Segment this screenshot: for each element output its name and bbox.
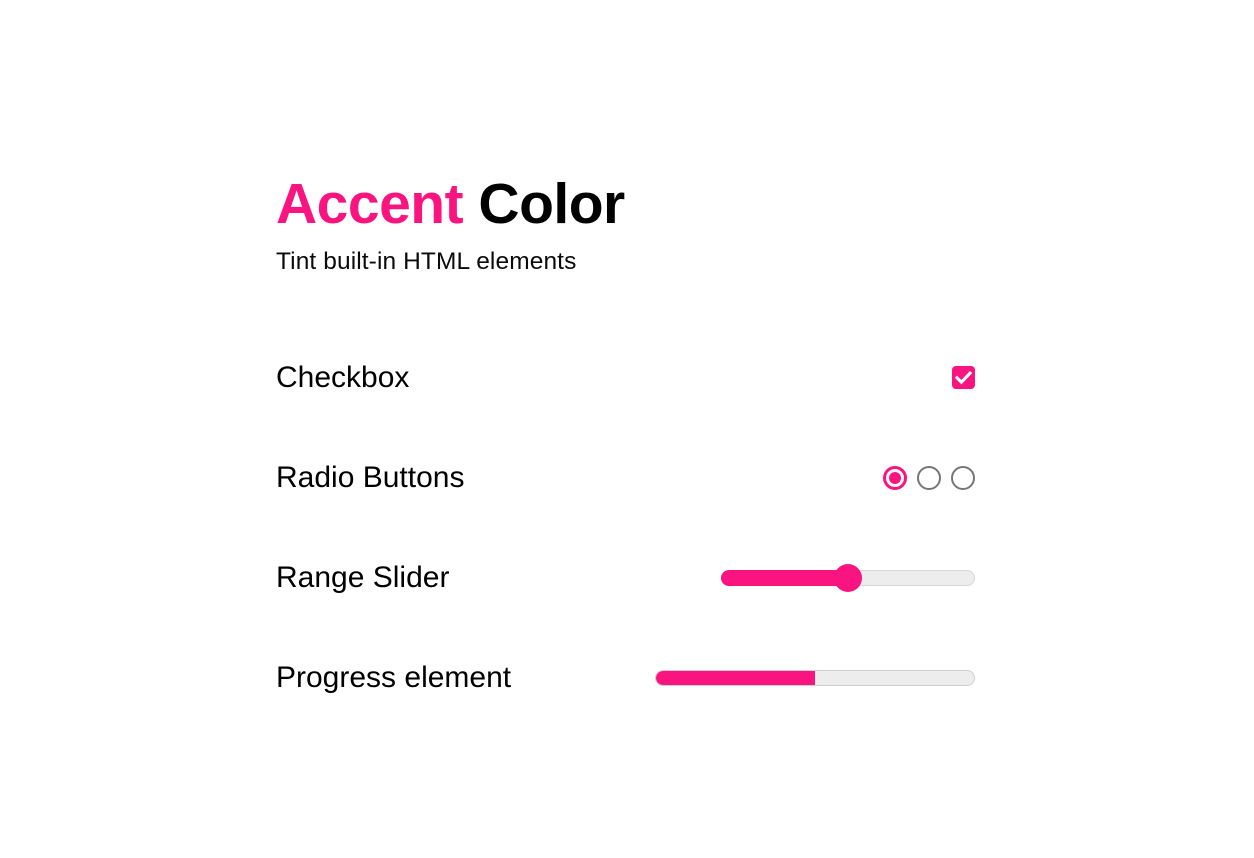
content-container: Accent Color Tint built-in HTML elements… (276, 175, 976, 728)
page-title-plain-word: Color (478, 172, 624, 236)
range-slider-input[interactable] (721, 564, 975, 592)
row-label-radio-buttons: Radio Buttons (276, 463, 464, 493)
row-label-range-slider: Range Slider (276, 563, 449, 593)
row-label-checkbox: Checkbox (276, 363, 409, 393)
control-cell-checkbox (952, 366, 976, 389)
radio-group (883, 466, 975, 490)
check-icon (952, 366, 975, 389)
radio-option-2[interactable] (917, 466, 941, 490)
row-radio-buttons: Radio Buttons (276, 428, 976, 528)
control-cell-radio-buttons (883, 466, 976, 490)
row-range-slider: Range Slider (276, 528, 976, 628)
radio-option-1[interactable] (883, 466, 907, 490)
control-cell-range-slider (721, 564, 976, 592)
row-progress-element: Progress element (276, 628, 976, 728)
range-slider-thumb[interactable] (834, 564, 862, 592)
control-cell-progress-element (655, 670, 976, 686)
page-title: Accent Color (276, 175, 976, 235)
row-label-progress-element: Progress element (276, 663, 511, 693)
row-checkbox: Checkbox (276, 328, 976, 428)
range-slider-fill (721, 570, 848, 586)
controls-list: Checkbox Radio Buttons (276, 328, 976, 728)
page-title-accent-word: Accent (276, 172, 463, 236)
page-root: Accent Color Tint built-in HTML elements… (0, 0, 1254, 858)
radio-option-3[interactable] (951, 466, 975, 490)
progress-element-fill (656, 671, 815, 685)
page-subtitle: Tint built-in HTML elements (276, 248, 976, 276)
progress-element (655, 670, 975, 686)
checkbox-input[interactable] (952, 366, 975, 389)
